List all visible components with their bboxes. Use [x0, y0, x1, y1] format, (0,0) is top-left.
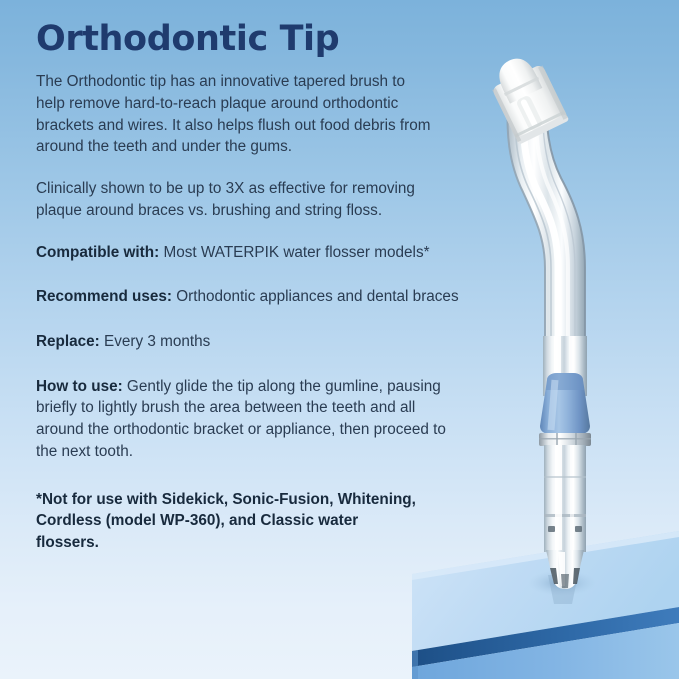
spec-compatible-with: Compatible with: Most WATERPIK water flo… [36, 242, 536, 264]
spec-value: Orthodontic appliances and dental braces [172, 288, 459, 305]
spec-replace: Replace: Every 3 months [36, 331, 536, 353]
clinical-paragraph: Clinically shown to be up to 3X as effec… [36, 178, 436, 221]
page-title: Orthodontic Tip [36, 20, 536, 59]
spec-recommend-uses: Recommend uses: Orthodontic appliances a… [36, 286, 536, 308]
spec-label: Recommend uses: [36, 288, 172, 305]
spec-label: How to use: [36, 378, 123, 395]
footnote-disclaimer: *Not for use with Sidekick, Sonic-Fusion… [36, 489, 416, 554]
spec-value: Every 3 months [100, 333, 211, 350]
spec-label: Replace: [36, 333, 100, 350]
product-copy: Orthodontic Tip The Orthodontic tip has … [36, 20, 536, 554]
intro-paragraph: The Orthodontic tip has an innovative ta… [36, 71, 436, 158]
spec-value: Most WATERPIK water flosser models* [159, 244, 429, 261]
spec-how-to-use: How to use: Gently glide the tip along t… [36, 376, 451, 463]
product-info-card: Orthodontic Tip The Orthodontic tip has … [0, 0, 679, 679]
blue-collar [540, 373, 590, 434]
spec-label: Compatible with: [36, 244, 159, 261]
